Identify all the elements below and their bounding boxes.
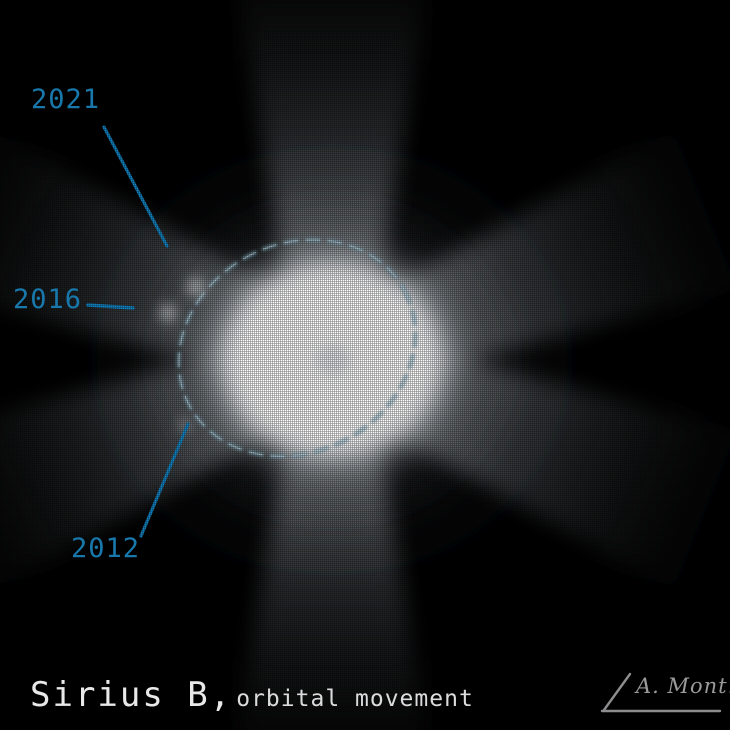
epoch-label-2012: 2012	[71, 535, 140, 562]
epoch-label-2016: 2016	[13, 286, 82, 313]
leader-line-2012	[141, 424, 188, 536]
caption: Sirius B,orbital movement	[30, 675, 474, 715]
epoch-label-2021: 2021	[31, 86, 100, 113]
caption-description: orbital movement	[236, 686, 474, 712]
credit-text: A. Mont.	[636, 674, 730, 698]
caption-subject: Sirius B,	[30, 675, 232, 715]
leader-line-2021	[104, 127, 167, 246]
leader-line-2016	[88, 305, 133, 308]
sirius-b-image: 2021 2016 2012 Sirius B,orbital movement…	[0, 0, 730, 730]
annotation-leaders-layer	[0, 0, 730, 730]
credit-signature: A. Mont.	[594, 668, 722, 716]
